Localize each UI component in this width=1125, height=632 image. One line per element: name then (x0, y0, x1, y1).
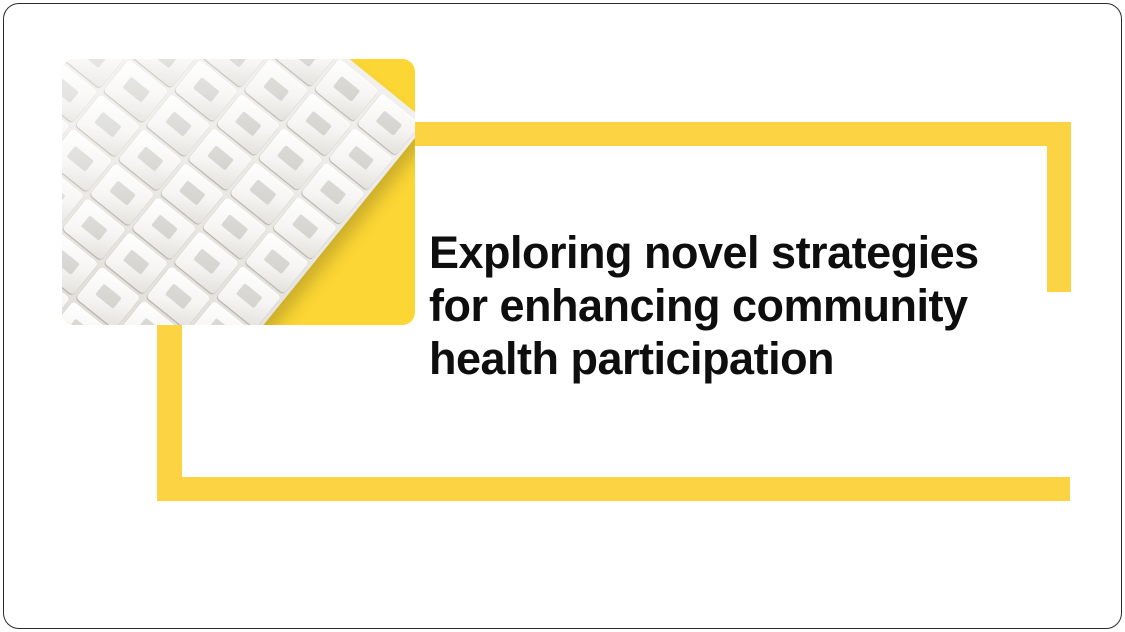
frame-bar-right (1047, 122, 1071, 292)
slide-card: Exploring novel strategies for enhancing… (3, 3, 1122, 629)
page-title: Exploring novel strategies for enhancing… (429, 226, 1029, 385)
frame-bar-left (157, 304, 182, 501)
keyboard-image-tile (62, 59, 415, 325)
frame-bar-bottom (157, 477, 1070, 501)
slide-canvas: Exploring novel strategies for enhancing… (4, 4, 1121, 628)
title-block: Exploring novel strategies for enhancing… (429, 226, 1029, 385)
